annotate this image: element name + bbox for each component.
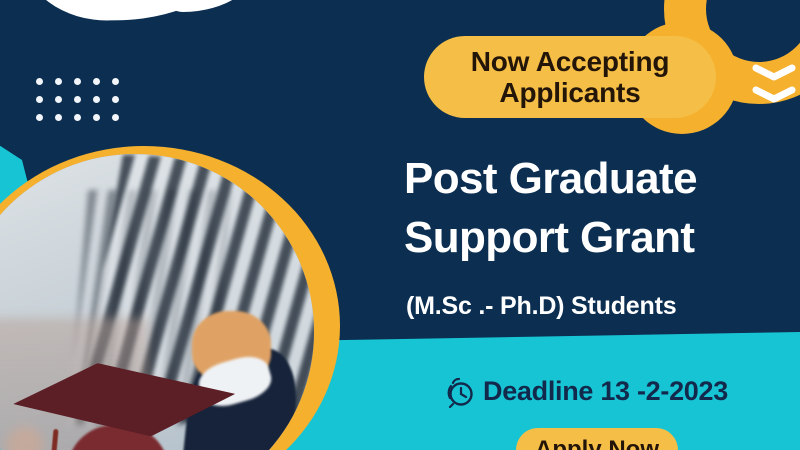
eligibility-subtitle: (M.Sc .- Ph.D) Students bbox=[406, 292, 800, 321]
now-accepting-badge: Now Accepting Applicants bbox=[424, 36, 716, 118]
headline-line-1: Post Graduate bbox=[404, 150, 794, 209]
photo-tassel bbox=[48, 429, 58, 450]
grant-announcement-poster: Now Accepting Applicants Post Graduate S… bbox=[0, 0, 800, 450]
badge-line-1: Now Accepting bbox=[471, 46, 670, 77]
dot-grid-icon bbox=[36, 78, 119, 121]
badge-line-2: Applicants bbox=[471, 77, 670, 108]
headline-line-2: Support Grant bbox=[404, 209, 794, 268]
photo-image-area bbox=[0, 154, 314, 450]
page-title: Post Graduate Support Grant bbox=[404, 150, 794, 267]
alarm-clock-icon bbox=[446, 374, 476, 408]
deadline-text: Deadline 13 -2-2023 bbox=[483, 376, 728, 407]
wave-lines-icon bbox=[750, 60, 796, 112]
apply-now-button[interactable]: Apply Now bbox=[516, 428, 678, 450]
deadline-row: Deadline 13 -2-2023 bbox=[446, 374, 728, 408]
photo-graduation-cap bbox=[13, 353, 235, 450]
graduate-photo bbox=[0, 146, 340, 450]
